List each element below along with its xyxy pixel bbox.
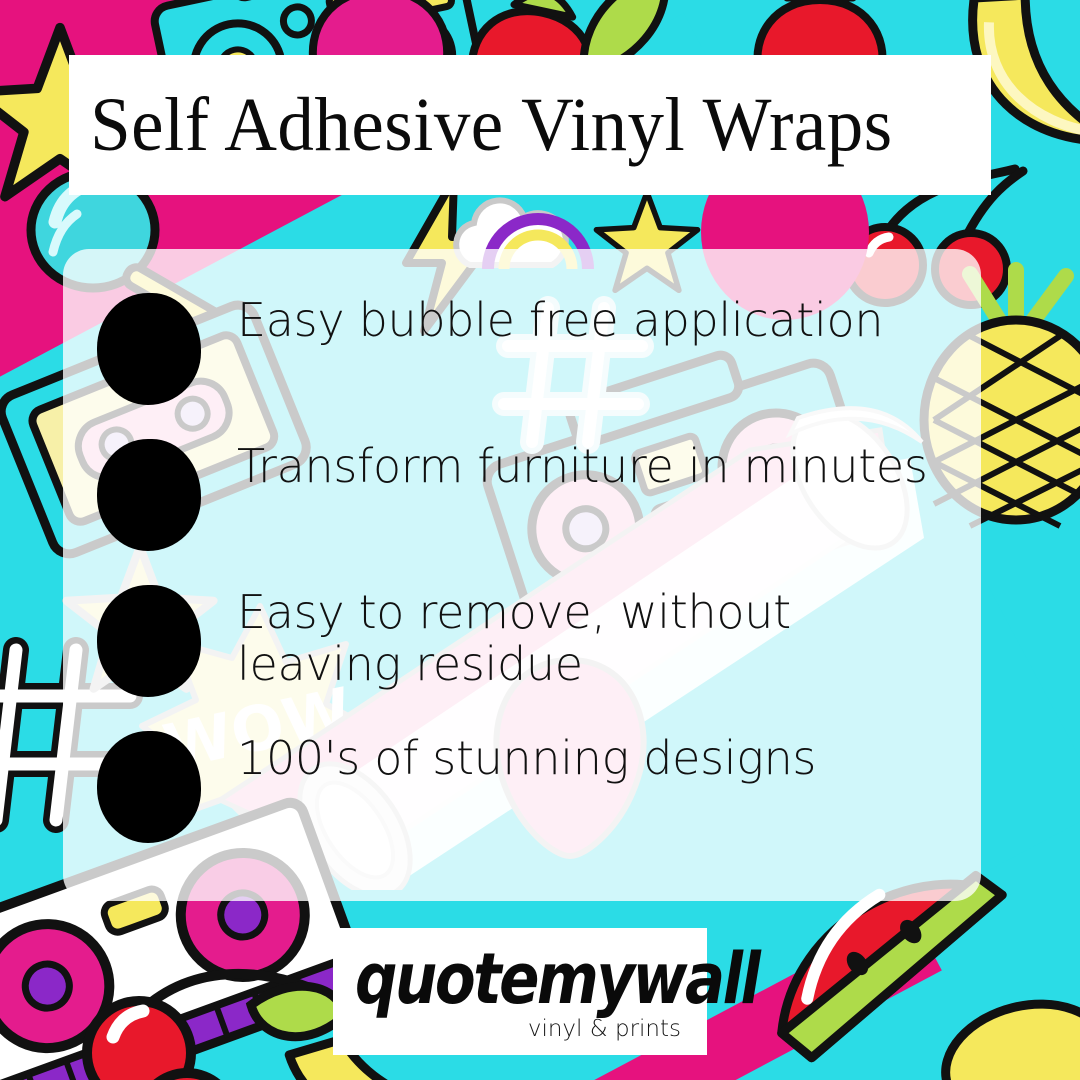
black-dot-bullet-icon [97, 731, 201, 843]
feature-label: 100's of stunning designs [201, 725, 951, 785]
black-dot-bullet-icon [97, 439, 201, 551]
list-item: 100's of stunning designs [97, 725, 951, 845]
list-item: Easy bubble free application [97, 287, 951, 407]
list-item: Easy to remove, without leaving residue [97, 579, 951, 699]
logo-inner: quotemywall vinyl & prints [355, 942, 685, 1042]
promo-poster: WOW [0, 0, 1080, 1080]
feature-label: Easy to remove, without leaving residue [201, 579, 951, 691]
feature-label: Easy bubble free application [201, 287, 951, 347]
feature-list: Easy bubble free application Transform f… [63, 249, 981, 901]
list-item: Transform furniture in minutes [97, 433, 951, 553]
logo-wordmark: quotemywall [355, 944, 682, 1015]
feature-panel: Easy bubble free application Transform f… [63, 249, 981, 901]
brand-logo: quotemywall vinyl & prints [333, 928, 707, 1055]
logo-tagline: vinyl & prints [528, 1016, 681, 1042]
black-dot-bullet-icon [97, 585, 201, 697]
feature-label: Transform furniture in minutes [201, 433, 951, 493]
page-title: Self Adhesive Vinyl Wraps [69, 87, 893, 163]
title-plate: Self Adhesive Vinyl Wraps [69, 55, 991, 195]
black-dot-bullet-icon [97, 293, 201, 405]
